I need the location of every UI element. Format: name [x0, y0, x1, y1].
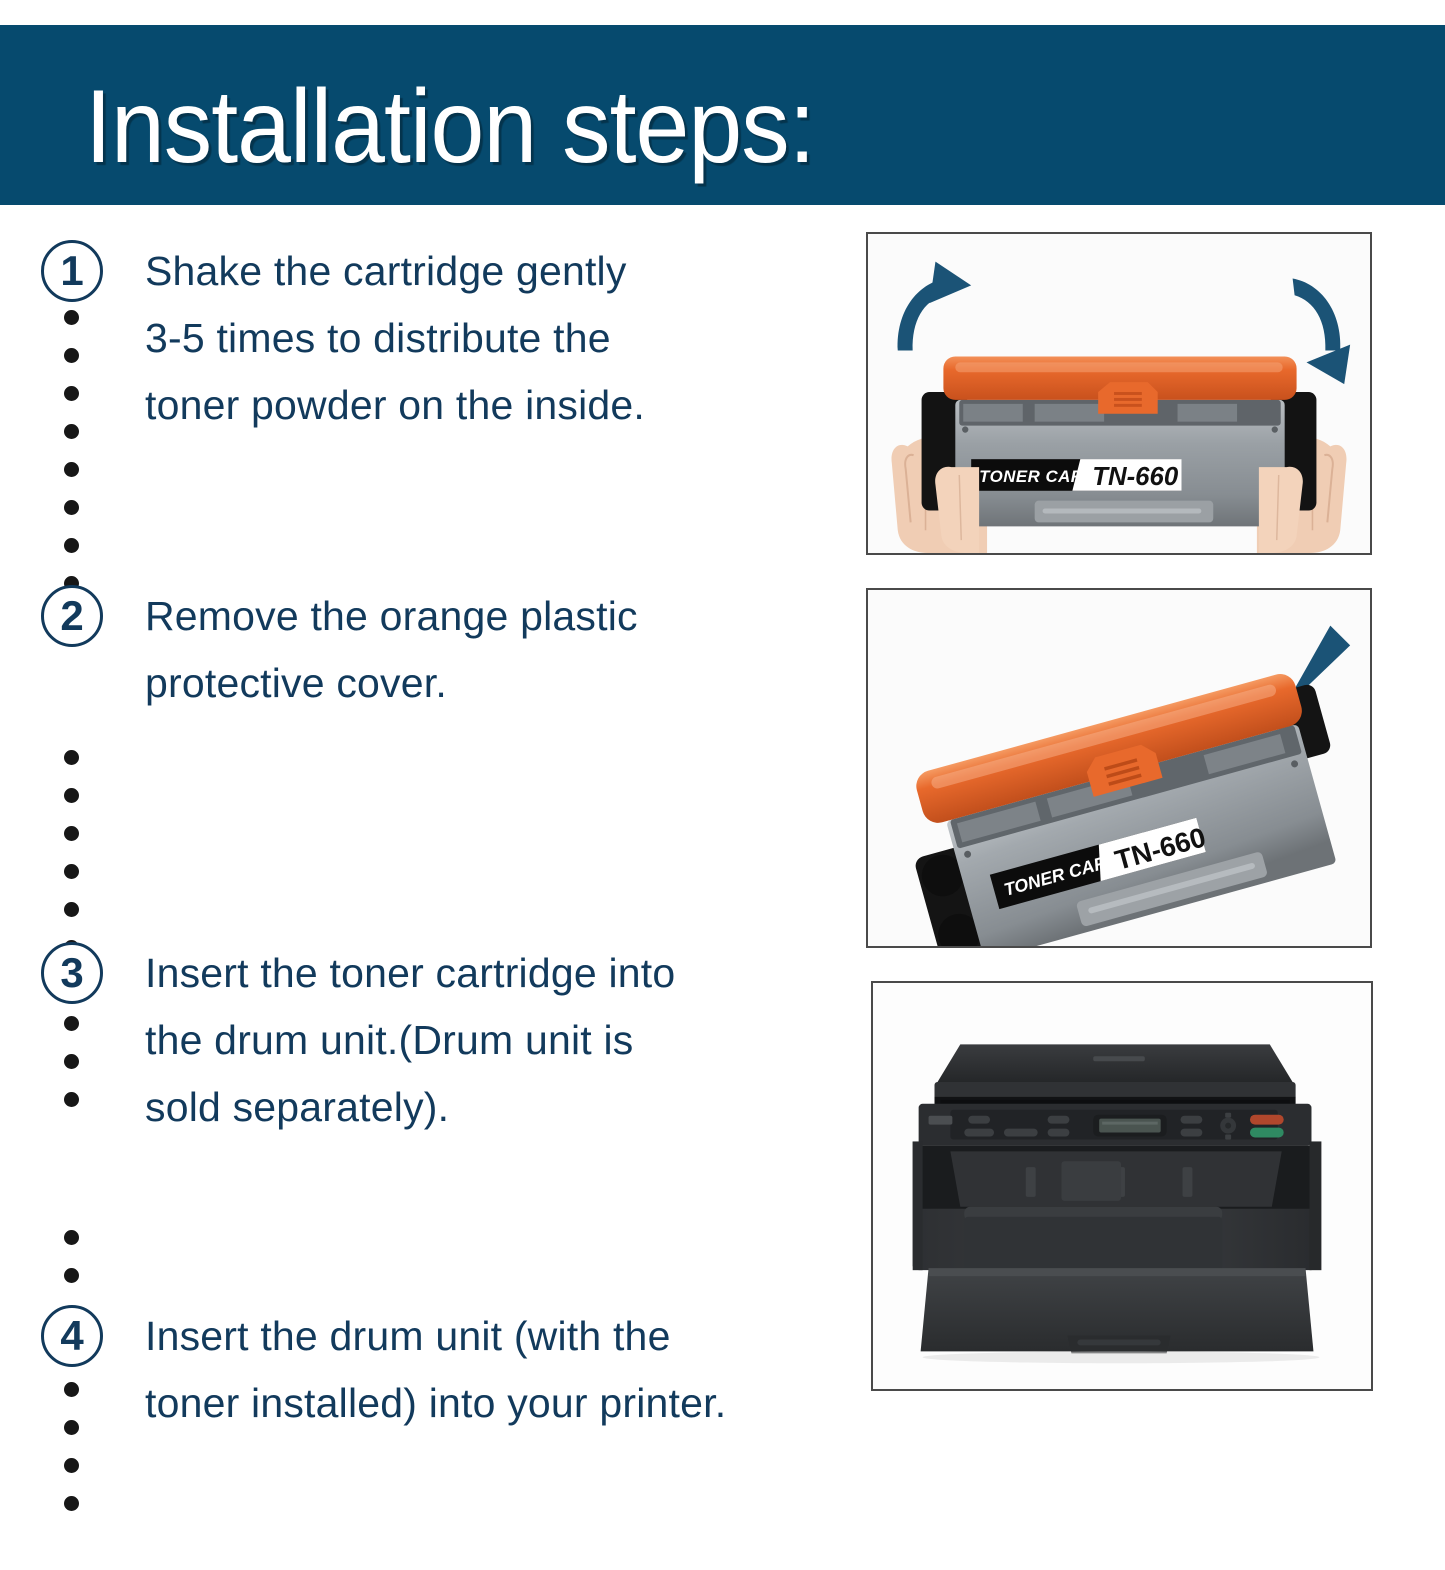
steps-list: 1 Shake the cartridge gently 3-5 times t…: [0, 230, 860, 1445]
step-text-3: Insert the toner cartridge into the drum…: [145, 940, 865, 1141]
step-number-badge-3: 3: [41, 942, 103, 1004]
header-banner: Installation steps:: [0, 25, 1445, 205]
toner-cartridge: TONER CARTRIDGE TN-660: [922, 356, 1317, 526]
panel-shake-cartridge: TONER CARTRIDGE TN-660: [866, 232, 1372, 555]
cartridge-label: TONER CARTRIDGE TN-660: [971, 459, 1181, 491]
illustration-printer: [873, 983, 1371, 1389]
panel-remove-orange-cover: TONER CARTRIDGE TN-660: [866, 588, 1372, 948]
step-text-2: Remove the orange plastic protective cov…: [145, 583, 865, 717]
step-text-1: Shake the cartridge gently 3-5 times to …: [145, 238, 865, 439]
page-title: Installation steps:: [85, 75, 815, 179]
panel-printer: [871, 981, 1373, 1391]
step-number-badge-2: 2: [41, 585, 103, 647]
step-text-4: Insert the drum unit (with the toner ins…: [145, 1303, 905, 1437]
dotted-connector-3: [64, 1230, 80, 1570]
illustration-shake-cartridge: TONER CARTRIDGE TN-660: [868, 234, 1370, 553]
step-number-badge-1: 1: [41, 240, 103, 302]
infographic-page: Installation steps: 1 Shake the: [0, 0, 1445, 1445]
step-number-badge-4: 4: [41, 1305, 103, 1367]
label-tn660: TN-660: [1092, 463, 1179, 491]
illustration-remove-cover: TONER CARTRIDGE TN-660: [868, 590, 1370, 946]
